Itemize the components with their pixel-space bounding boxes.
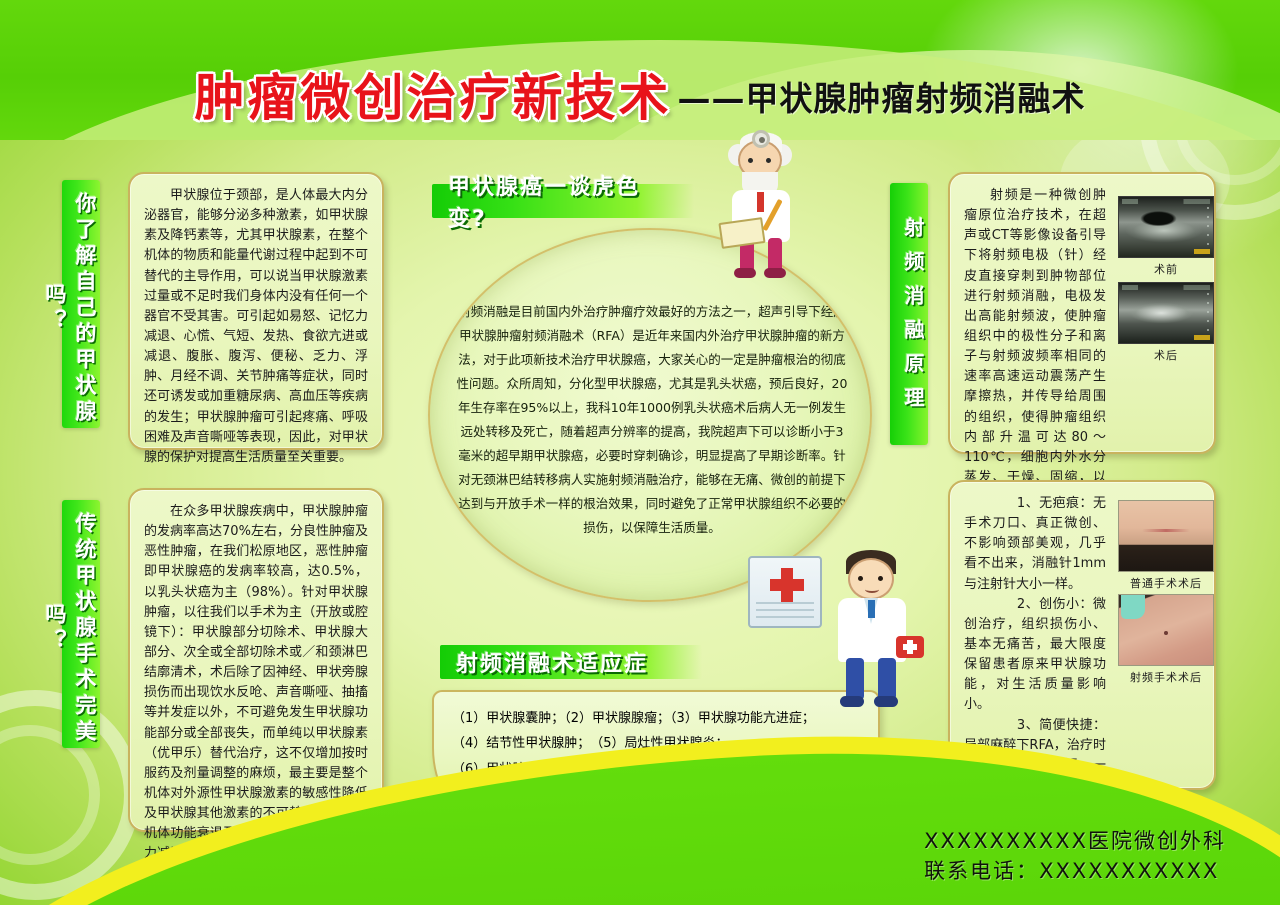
oval-content-panel: 射频消融是目前国内外治疗肿瘤疗效最好的方法之一，超声引导下经皮甲状腺肿瘤射频消融…: [428, 228, 872, 602]
photo-caption: 射频手术术后: [1118, 669, 1214, 685]
rfa-overview-text: 射频消融是目前国内外治疗肿瘤疗效最好的方法之一，超声引导下经皮甲状腺肿瘤射频消融…: [456, 300, 848, 540]
vertical-label-traditional-surgery: 传统甲状腺手术完美吗？: [62, 500, 100, 748]
vertical-label-rfa-principle: 射频消融原理: [890, 183, 928, 445]
poster-canvas: 觅知网 觅知网 觅知网 觅知网 觅知网 觅知网 觅知网 觅知网 肿瘤微创治疗新技…: [0, 0, 1280, 905]
photo-image-normal-surgery: [1118, 500, 1214, 572]
medical-cross-sign-icon: [748, 556, 822, 628]
card-thyroid-intro: 甲状腺位于颈部，是人体最大内分泌器官，能够分泌多种激素，如甲状腺素及降钙素等，尤…: [128, 172, 384, 450]
photo-caption: 普通手术术后: [1118, 575, 1214, 591]
footer-phone: 联系电话：XXXXXXXXXXX: [924, 857, 1226, 887]
ultrasound-caption: 术后: [1118, 347, 1214, 363]
advantage-item: 2、创伤小：微创治疗，组织损伤小、基本无痛苦，最大限度保留患者原来甲状腺功能，对…: [964, 595, 1106, 716]
ultrasound-image-postop: [1118, 282, 1214, 344]
vertical-label-know-thyroid: 你了解自己的甲状腺吗？: [62, 180, 100, 428]
thyroid-intro-text: 甲状腺位于颈部，是人体最大内分泌器官，能够分泌多种激素，如甲状腺素及降钙素等，尤…: [144, 186, 368, 468]
ultrasound-image-preop: [1118, 196, 1214, 258]
doctor-cartoon-icon: [820, 540, 928, 718]
photo-normal-surgery: 普通手术术后: [1118, 500, 1214, 591]
section-header-thyroid-cancer: 甲状腺癌一谈虎色变?: [432, 184, 694, 218]
title-subtitle: ——甲状腺肿瘤射频消融术: [678, 79, 1086, 118]
ultrasound-caption: 术前: [1118, 261, 1214, 277]
first-aid-kit-icon: [896, 636, 924, 658]
book-icon: [718, 217, 765, 249]
head-mirror-icon: [752, 130, 770, 148]
page-title: 肿瘤微创治疗新技术——甲状腺肿瘤射频消融术: [0, 58, 1280, 130]
title-main: 肿瘤微创治疗新技术: [195, 69, 672, 127]
oval-text-wrap: 射频消融是目前国内外治疗肿瘤疗效最好的方法之一，超声引导下经皮甲状腺肿瘤射频消融…: [456, 270, 848, 570]
ultrasound-preop: 术前: [1118, 196, 1214, 277]
professor-cartoon-icon: [712, 128, 816, 278]
list-item: （1）甲状腺囊肿；（2）甲状腺腺瘤；（3）甲状腺功能亢进症；: [452, 706, 860, 731]
rfa-principle-text: 射频是一种微创肿瘤原位治疗技术，在超声或CT等影像设备引导下将射频电极（针）经皮…: [964, 186, 1106, 528]
photo-image-rfa-surgery: [1118, 594, 1214, 666]
footer-contact: XXXXXXXXXX医院微创外科 联系电话：XXXXXXXXXXX: [924, 827, 1226, 887]
card-traditional-surgery: 在众多甲状腺疾病中，甲状腺肿瘤的发病率高达70%左右，分良性肿瘤及恶性肿瘤，在我…: [128, 488, 384, 832]
section-header-indications: 射频消融术适应症: [440, 645, 702, 679]
ultrasound-postop: 术后: [1118, 282, 1214, 363]
advantage-item: 1、无疤痕：无手术刀口、真正微创、不影响颈部美观，几乎看不出来，消融针1mm与注…: [964, 494, 1106, 595]
photo-rfa-surgery: 射频手术术后: [1118, 594, 1214, 685]
footer-hospital-name: XXXXXXXXXX医院微创外科: [924, 827, 1226, 857]
